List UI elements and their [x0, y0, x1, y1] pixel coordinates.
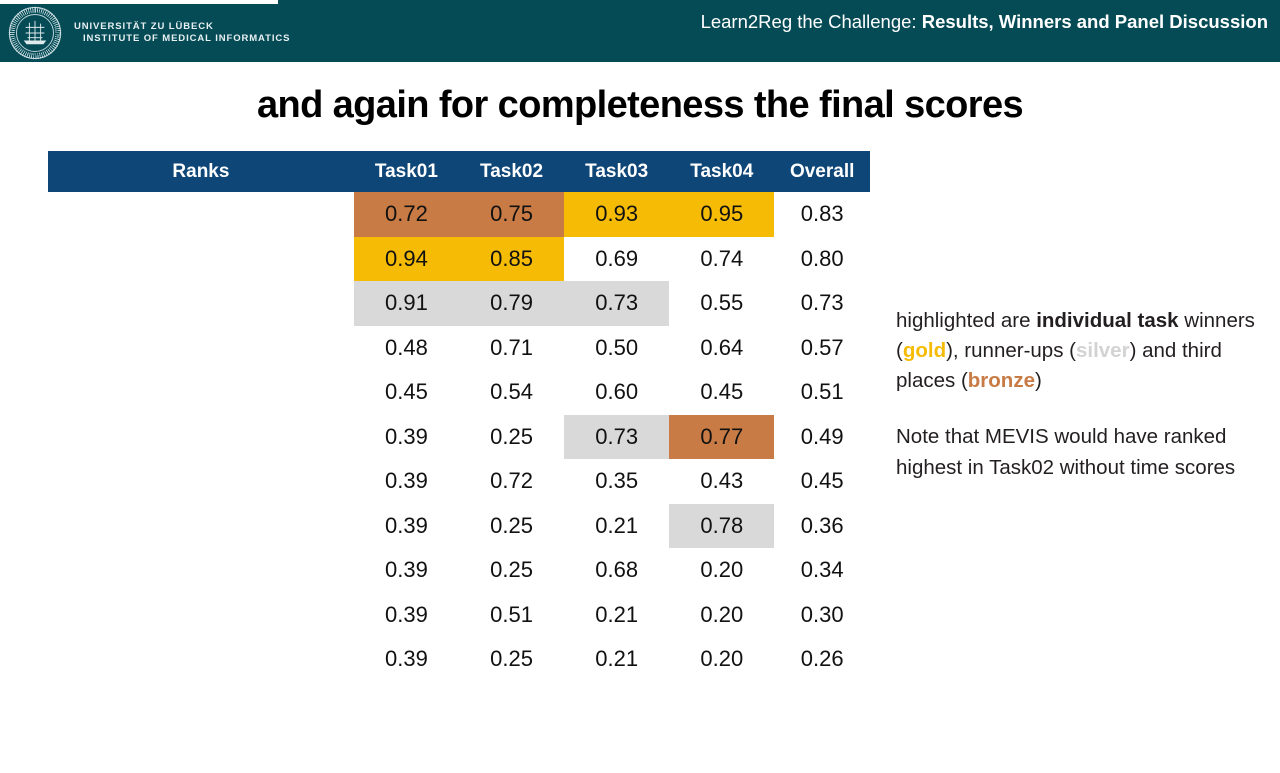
slide-title: and again for completeness the final sco…	[0, 84, 1280, 127]
table-row: Lasse (PDD-Net)0.940.850.690.740.80	[48, 237, 870, 282]
score-cell: 0.26	[774, 637, 870, 682]
university-logo: UNIVERSITÄT ZU LÜBECK INSTITUTE OF MEDIC…	[8, 4, 290, 62]
rank-label: initial	[48, 637, 354, 682]
institution-line-2: INSTITUTE OF MEDICAL INFORMATICS	[74, 33, 290, 45]
score-cell: 0.39	[354, 459, 459, 504]
legend-note: highlighted are individual task winners …	[896, 306, 1268, 396]
score-cell: 0.39	[354, 548, 459, 593]
score-cell: 0.72	[459, 459, 564, 504]
column-header-overall: Overall	[774, 151, 870, 192]
score-cell: 0.51	[459, 593, 564, 638]
score-cell: 0.60	[564, 370, 669, 415]
score-cell: 0.83	[774, 192, 870, 237]
score-cell: 0.72	[354, 192, 459, 237]
legend-text-bold: individual task	[1036, 309, 1178, 332]
score-cell: 0.35	[564, 459, 669, 504]
rank-label: Samuel (KCL)	[48, 548, 354, 593]
score-cell: 0.30	[774, 593, 870, 638]
legend-text-1: highlighted are	[896, 309, 1036, 332]
score-cell: 0.20	[669, 637, 774, 682]
score-cell: 0.20	[669, 593, 774, 638]
rank-label: Mattias (deeds)	[48, 281, 354, 326]
table-body: Tony (LapIRN)0.720.750.930.950.83Lasse (…	[48, 192, 870, 682]
score-cell: 0.95	[669, 192, 774, 237]
score-cell: 0.85	[459, 237, 564, 282]
table-row: nifty (unoptimized)0.390.720.350.430.45	[48, 459, 870, 504]
ship-glyph-icon	[20, 18, 50, 48]
table-header-row: Ranks Task01 Task02 Task03 Task04 Overal…	[48, 151, 870, 192]
score-cell: 0.39	[354, 593, 459, 638]
score-cell: 0.49	[774, 415, 870, 460]
score-cell: 0.74	[669, 237, 774, 282]
table-row: Fraunhofer MEVIS (LibReg)0.480.710.500.6…	[48, 326, 870, 371]
column-header-ranks: Ranks	[48, 151, 354, 192]
column-header-task01: Task01	[354, 151, 459, 192]
column-header-task02: Task02	[459, 151, 564, 192]
rank-label: Marek (AGH)	[48, 504, 354, 549]
score-cell: 0.73	[564, 281, 669, 326]
score-cell: 0.73	[774, 281, 870, 326]
score-cell: 0.25	[459, 504, 564, 549]
score-cell: 0.91	[354, 281, 459, 326]
score-cell: 0.54	[459, 370, 564, 415]
rank-label: Lasse (PDD-Net)	[48, 237, 354, 282]
legend-silver-label: silver	[1076, 339, 1130, 362]
mevis-note: Note that MEVIS would have ranked highes…	[896, 422, 1268, 482]
score-cell: 0.48	[354, 326, 459, 371]
legend-text-3: ), runner-ups (	[946, 339, 1076, 362]
score-cell: 0.68	[564, 548, 669, 593]
score-cell: 0.43	[669, 459, 774, 504]
header-bar: UNIVERSITÄT ZU LÜBECK INSTITUTE OF MEDIC…	[0, 0, 1280, 62]
score-cell: 0.20	[669, 548, 774, 593]
rank-label: Constance (EC Nantes)	[48, 593, 354, 638]
institution-line-1: UNIVERSITÄT ZU LÜBECK	[74, 21, 290, 33]
score-cell: 0.94	[354, 237, 459, 282]
score-cell: 0.64	[669, 326, 774, 371]
score-cell: 0.75	[459, 192, 564, 237]
table-row: Mattias (deeds)0.910.790.730.550.73	[48, 281, 870, 326]
score-cell: 0.73	[564, 415, 669, 460]
column-header-task03: Task03	[564, 151, 669, 192]
score-cell: 0.50	[564, 326, 669, 371]
university-seal-icon	[8, 6, 62, 60]
rank-label: nifty (unoptimized)	[48, 459, 354, 504]
table-header: Ranks Task01 Task02 Task03 Task04 Overal…	[48, 151, 870, 192]
results-table: Ranks Task01 Task02 Task03 Task04 Overal…	[48, 151, 870, 682]
rank-label: Tony (LapIRN)	[48, 192, 354, 237]
score-cell: 0.80	[774, 237, 870, 282]
score-cell: 0.57	[774, 326, 870, 371]
score-cell: 0.69	[564, 237, 669, 282]
table-row: Samuel (KCL)0.390.250.680.200.34	[48, 548, 870, 593]
presentation-title: Learn2Reg the Challenge: Results, Winner…	[701, 11, 1268, 33]
presentation-title-bold: Results, Winners and Panel Discussion	[922, 11, 1268, 32]
score-cell: 0.36	[774, 504, 870, 549]
legend-bronze-label: bronze	[968, 369, 1035, 392]
score-cell: 0.39	[354, 637, 459, 682]
score-cell: 0.39	[354, 504, 459, 549]
score-cell: 0.25	[459, 637, 564, 682]
score-cell: 0.21	[564, 504, 669, 549]
table-row: Marek (AGH)0.390.250.210.780.36	[48, 504, 870, 549]
column-header-task04: Task04	[669, 151, 774, 192]
score-cell: 0.25	[459, 415, 564, 460]
side-notes: highlighted are individual task winners …	[896, 306, 1268, 483]
table-row: Niklas (Uppsala)0.450.540.600.450.51	[48, 370, 870, 415]
rank-label: Fraunhofer MEVIS (LibReg)	[48, 326, 354, 371]
score-cell: 0.77	[669, 415, 774, 460]
table-row: initial0.390.250.210.200.26	[48, 637, 870, 682]
score-cell: 0.21	[564, 637, 669, 682]
score-cell: 0.21	[564, 593, 669, 638]
score-cell: 0.71	[459, 326, 564, 371]
score-cell: 0.93	[564, 192, 669, 237]
score-cell: 0.45	[354, 370, 459, 415]
score-cell: 0.55	[669, 281, 774, 326]
score-cell: 0.39	[354, 415, 459, 460]
score-cell: 0.51	[774, 370, 870, 415]
rank-label: Théo (CentraleSupélec)	[48, 415, 354, 460]
score-cell: 0.45	[774, 459, 870, 504]
table-row: Théo (CentraleSupélec)0.390.250.730.770.…	[48, 415, 870, 460]
rank-label: Niklas (Uppsala)	[48, 370, 354, 415]
score-cell: 0.45	[669, 370, 774, 415]
table-row: Tony (LapIRN)0.720.750.930.950.83	[48, 192, 870, 237]
score-cell: 0.79	[459, 281, 564, 326]
legend-gold-label: gold	[903, 339, 946, 362]
score-cell: 0.25	[459, 548, 564, 593]
table-row: Constance (EC Nantes)0.390.510.210.200.3…	[48, 593, 870, 638]
score-cell: 0.78	[669, 504, 774, 549]
score-cell: 0.34	[774, 548, 870, 593]
institution-name: UNIVERSITÄT ZU LÜBECK INSTITUTE OF MEDIC…	[74, 21, 290, 44]
legend-text-5: )	[1035, 369, 1042, 392]
presentation-title-plain: Learn2Reg the Challenge:	[701, 11, 922, 32]
